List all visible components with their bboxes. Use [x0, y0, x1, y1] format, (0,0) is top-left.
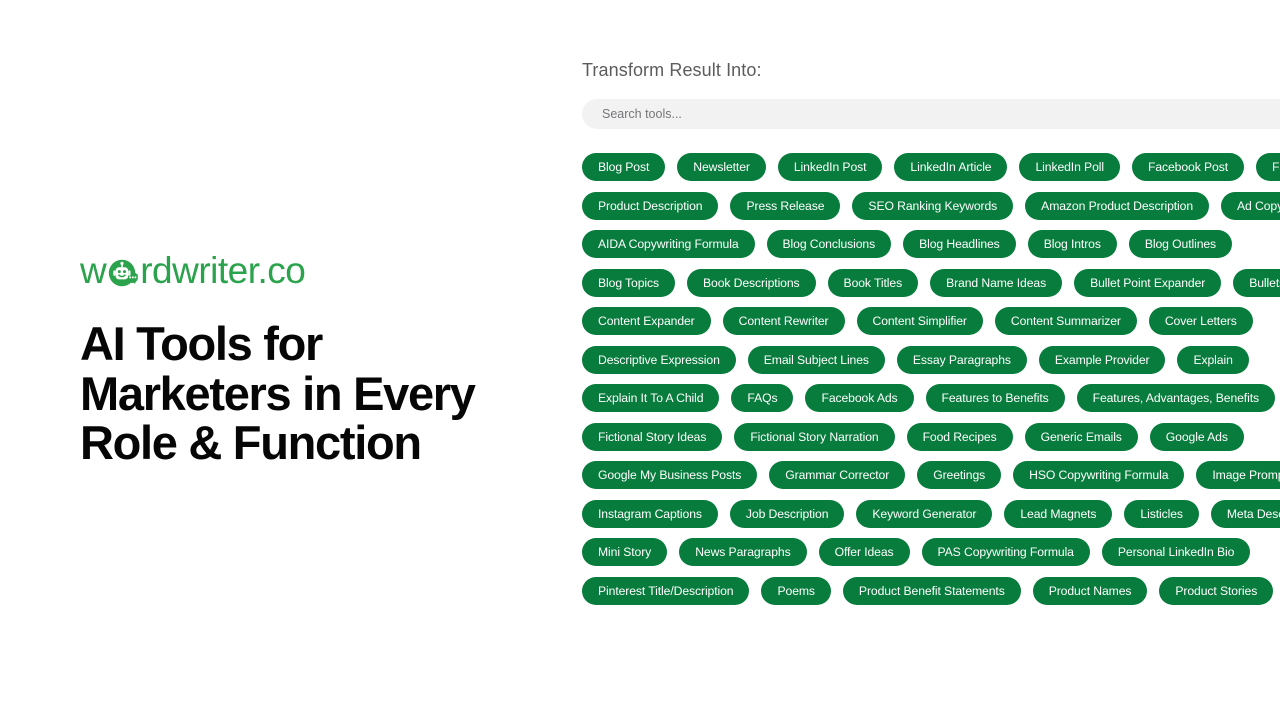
tool-tag-button[interactable]: Listicles	[1124, 500, 1198, 528]
tool-tag-button[interactable]: Product Stories	[1159, 577, 1273, 605]
tool-tag-button[interactable]: Bullets	[1233, 269, 1280, 297]
tool-tag-button[interactable]: Content Rewriter	[723, 307, 845, 335]
tool-tag-button[interactable]: Features to Benefits	[926, 384, 1065, 412]
tool-tag-button[interactable]: Blog Conclusions	[767, 230, 892, 258]
wordwriter-logo[interactable]: w rdwrit	[80, 252, 540, 289]
hero-left-column: w rdwrit	[0, 0, 560, 720]
tool-tag-button[interactable]: Blog Intros	[1028, 230, 1117, 258]
tool-tag-button[interactable]: Content Expander	[582, 307, 711, 335]
tool-tag-button[interactable]: AIDA Copywriting Formula	[582, 230, 755, 258]
tool-tag-button[interactable]: Fictional Story Ideas	[582, 423, 722, 451]
tool-tag-button[interactable]: LinkedIn Post	[778, 153, 883, 181]
tool-tag-row: Product DescriptionPress ReleaseSEO Rank…	[582, 192, 1280, 220]
tool-tag-button[interactable]: Cover Letters	[1149, 307, 1253, 335]
transform-panel-label: Transform Result Into:	[582, 60, 1280, 81]
tool-tag-button[interactable]: Example Provider	[1039, 346, 1166, 374]
tool-tag-row: Content ExpanderContent RewriterContent …	[582, 307, 1280, 335]
tool-tag-button[interactable]: Bullet Point Expander	[1074, 269, 1221, 297]
tool-tag-row: Pinterest Title/DescriptionPoemsProduct …	[582, 577, 1280, 605]
tool-tag-button[interactable]: Blog Topics	[582, 269, 675, 297]
tool-tag-row: Blog PostNewsletterLinkedIn PostLinkedIn…	[582, 153, 1280, 181]
tool-tag-button[interactable]: Image Prompts	[1196, 461, 1280, 489]
tool-tag-button[interactable]: Facebook Page	[1256, 153, 1280, 181]
tool-tag-button[interactable]: Product Benefit Statements	[843, 577, 1021, 605]
tool-tag-button[interactable]: Book Descriptions	[687, 269, 816, 297]
tool-tag-row: Mini StoryNews ParagraphsOffer IdeasPAS …	[582, 538, 1280, 566]
tool-tag-button[interactable]: Instagram Captions	[582, 500, 718, 528]
tool-tag-button[interactable]: Poems	[761, 577, 830, 605]
tool-tag-row: Blog TopicsBook DescriptionsBook TitlesB…	[582, 269, 1280, 297]
tool-tag-button[interactable]: Greetings	[917, 461, 1001, 489]
tool-tag-list: Blog PostNewsletterLinkedIn PostLinkedIn…	[582, 153, 1280, 605]
tool-tag-button[interactable]: Blog Post	[582, 153, 665, 181]
tool-tag-button[interactable]: Content Summarizer	[995, 307, 1137, 335]
tool-tag-button[interactable]: Pinterest Title/Description	[582, 577, 749, 605]
tool-tag-button[interactable]: Facebook Post	[1132, 153, 1244, 181]
tool-tag-button[interactable]: Features, Advantages, Benefits	[1077, 384, 1275, 412]
tool-tag-row: Instagram CaptionsJob DescriptionKeyword…	[582, 500, 1280, 528]
tool-tag-row: Descriptive ExpressionEmail Subject Line…	[582, 346, 1280, 374]
search-input[interactable]	[582, 99, 1280, 129]
tool-tag-button[interactable]: Email Subject Lines	[748, 346, 885, 374]
tool-tag-button[interactable]: Job Description	[730, 500, 845, 528]
tool-tag-button[interactable]: Keyword Generator	[856, 500, 992, 528]
tool-tag-button[interactable]: Explain It To A Child	[582, 384, 719, 412]
tool-tag-button[interactable]: Product Names	[1033, 577, 1148, 605]
tool-tag-button[interactable]: Meta Description	[1211, 500, 1280, 528]
tool-tag-button[interactable]: Lead Magnets	[1004, 500, 1112, 528]
tool-tag-button[interactable]: Amazon Product Description	[1025, 192, 1209, 220]
tool-tag-button[interactable]: Product Description	[582, 192, 718, 220]
page-title: AI Tools for Marketers in Every Role & F…	[80, 319, 530, 467]
robot-chat-icon	[107, 257, 139, 289]
tool-tag-button[interactable]: Facebook Ads	[805, 384, 913, 412]
tool-tag-button[interactable]: Blog Headlines	[903, 230, 1016, 258]
tool-tag-button[interactable]: Press Release	[730, 192, 840, 220]
tool-tag-button[interactable]: LinkedIn Poll	[1019, 153, 1120, 181]
ai-tools-page: w rdwrit	[0, 0, 1280, 720]
transform-panel: Transform Result Into: Blog PostNewslett…	[560, 0, 1280, 720]
tool-tag-button[interactable]: LinkedIn Article	[894, 153, 1007, 181]
tool-tag-button[interactable]: Essay Paragraphs	[897, 346, 1027, 374]
search-tools-field[interactable]	[582, 99, 1280, 129]
tool-tag-row: Fictional Story IdeasFictional Story Nar…	[582, 423, 1280, 451]
tool-tag-button[interactable]: HSO Copywriting Formula	[1013, 461, 1184, 489]
tool-tag-button[interactable]: Newsletter	[677, 153, 766, 181]
tool-tag-button[interactable]: PAS Copywriting Formula	[922, 538, 1090, 566]
tool-tag-button[interactable]: Content Simplifier	[857, 307, 983, 335]
tool-tag-button[interactable]: Google My Business Posts	[582, 461, 757, 489]
tool-tag-button[interactable]: Book Titles	[828, 269, 919, 297]
tool-tag-button[interactable]: Brand Name Ideas	[930, 269, 1062, 297]
tool-tag-button[interactable]: Explain	[1177, 346, 1248, 374]
tool-tag-row: Explain It To A ChildFAQsFacebook AdsFea…	[582, 384, 1280, 412]
tool-tag-button[interactable]: Food Recipes	[907, 423, 1013, 451]
tool-tag-button[interactable]: Generic Emails	[1025, 423, 1138, 451]
tool-tag-button[interactable]: Ad Copy	[1221, 192, 1280, 220]
tool-tag-button[interactable]: Grammar Corrector	[769, 461, 905, 489]
tool-tag-button[interactable]: News Paragraphs	[679, 538, 806, 566]
tool-tag-button[interactable]: FAQs	[731, 384, 793, 412]
tool-tag-button[interactable]: SEO Ranking Keywords	[852, 192, 1013, 220]
tool-tag-row: AIDA Copywriting FormulaBlog Conclusions…	[582, 230, 1280, 258]
tool-tag-button[interactable]: Mini Story	[582, 538, 667, 566]
tool-tag-button[interactable]: Offer Ideas	[819, 538, 910, 566]
tool-tag-button[interactable]: Google Ads	[1150, 423, 1244, 451]
tool-tag-button[interactable]: Fictional Story Narration	[734, 423, 894, 451]
tool-tag-button[interactable]: Blog Outlines	[1129, 230, 1232, 258]
logo-text-suffix: rdwriter.co	[140, 252, 305, 289]
tool-tag-button[interactable]: Descriptive Expression	[582, 346, 736, 374]
logo-text-prefix: w	[80, 252, 106, 289]
tool-tag-button[interactable]: Personal LinkedIn Bio	[1102, 538, 1250, 566]
tool-tag-row: Google My Business PostsGrammar Correcto…	[582, 461, 1280, 489]
